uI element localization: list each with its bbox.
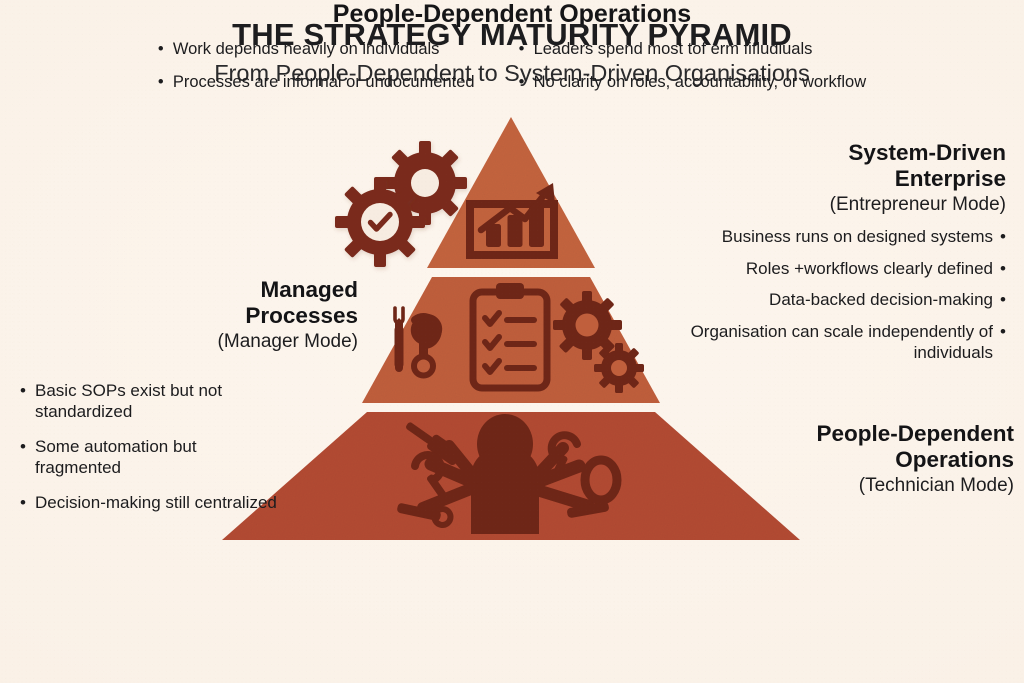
middle-tier-mode: (Manager Mode) (118, 331, 358, 354)
list-item: Processes are informal or undocumented (158, 72, 475, 93)
tier-label-people-dependent: People-Dependent Operations (Technician … (734, 421, 1014, 497)
list-item: Business runs on designed systems (624, 226, 1006, 247)
pyramid-tier-middle[interactable] (362, 277, 660, 403)
list-item: Leaders spend most tof erm fifludiuals (519, 39, 867, 60)
list-item: Roles +workflows clearly defined (624, 258, 1006, 279)
infographic-canvas: THE STRATEGY MATURITY PYRAMID From Peopl… (0, 0, 1024, 683)
list-item: No clarity on roles, accountability, or … (519, 72, 867, 93)
gear-check-icon (316, 158, 443, 285)
bottom-tier-mode: (Technician Mode) (734, 475, 1014, 498)
pyramid-tier-bottom[interactable] (222, 412, 800, 540)
top-tier-heading-line2: Enterprise (624, 166, 1006, 192)
middle-tier-heading-line2: Processes (118, 303, 358, 329)
tier-label-system-driven: System-Driven Enterprise (Entrepreneur M… (624, 140, 1006, 363)
middle-tier-heading: Managed Processes (118, 277, 358, 330)
list-item: Basic SOPs exist but not standardized (20, 380, 278, 423)
bottom-tier-heading-line2: Operations (734, 447, 1014, 473)
list-item: Work depends heavily on individuals (158, 39, 475, 60)
top-tier-mode: (Entrepreneur Mode) (624, 194, 1006, 217)
tier-label-managed-processes: Managed Processes (Manager Mode) (118, 277, 358, 353)
list-item: Decision-making still centralized (20, 492, 278, 513)
list-item: Data-backed decision-making (624, 289, 1006, 310)
page-title: THE STRATEGY MATURITY PYRAMID (0, 18, 1024, 53)
pyramid-tier-top[interactable] (427, 117, 595, 268)
middle-tier-heading-line1: Managed (118, 277, 358, 303)
list-item: Organisation can scale independently of … (624, 321, 1006, 364)
page-subtitle: From People-Dependent to System-Driven O… (0, 59, 1024, 87)
middle-tier-bullets: Basic SOPs exist but not standardized So… (20, 380, 278, 513)
list-item: Some automation but fragmented (20, 436, 278, 479)
top-tier-heading-line1: System-Driven (624, 140, 1006, 166)
header: THE STRATEGY MATURITY PYRAMID From Peopl… (0, 18, 1024, 87)
bottom-tier-heading: People-Dependent Operations (734, 421, 1014, 474)
middle-tier-bullet-list: Basic SOPs exist but not standardized So… (20, 380, 278, 513)
bottom-tier-heading-line1: People-Dependent (734, 421, 1014, 447)
top-tier-bullet-list: Business runs on designed systems Roles … (624, 226, 1006, 363)
top-tier-heading: System-Driven Enterprise (624, 140, 1006, 193)
